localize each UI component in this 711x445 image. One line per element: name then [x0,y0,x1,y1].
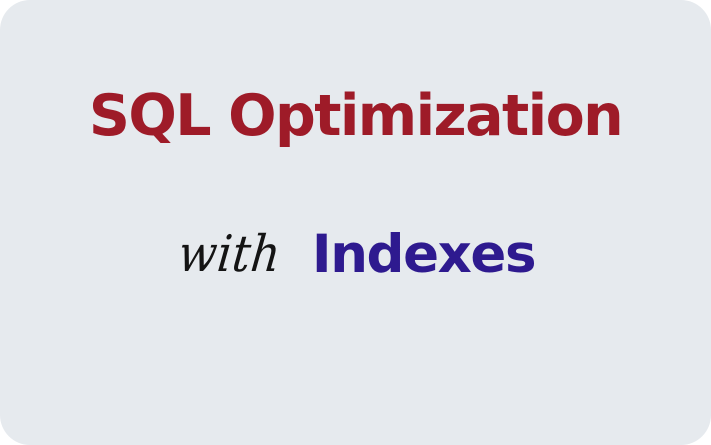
subline-row: with Indexes [0,228,711,281]
title-slide-card: SQL Optimization with Indexes [0,0,711,445]
subline-accent-word: Indexes [312,228,535,281]
slide-headline: SQL Optimization [89,88,622,145]
slide-canvas: SQL Optimization with Indexes [0,0,711,445]
headline-row: SQL Optimization [0,88,711,145]
subline-script-word: with [176,229,283,279]
